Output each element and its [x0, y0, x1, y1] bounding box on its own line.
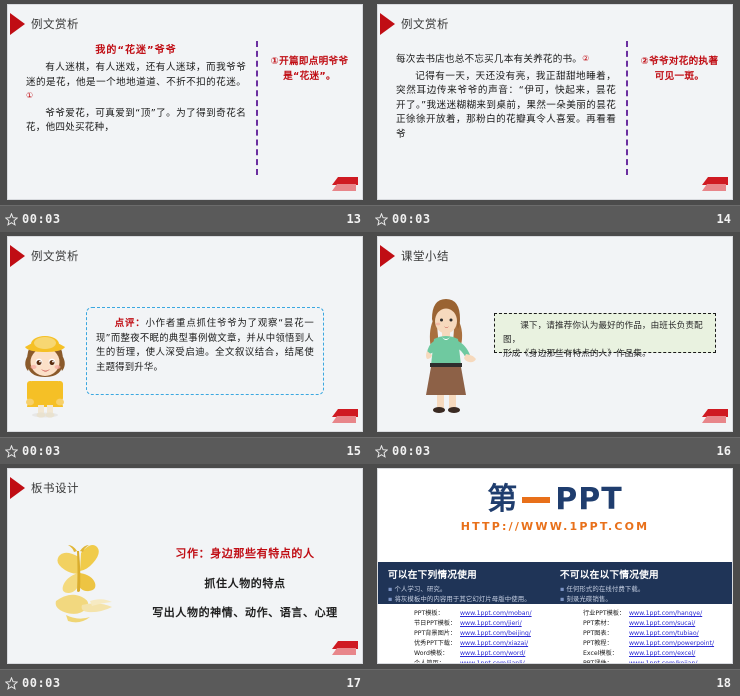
status-left: 00:03 [375, 444, 431, 458]
slide-header-title: 例文赏析 [31, 248, 79, 264]
essay-paragraph: 爷爷爱花，可真爱到“顶”了。为了得到奇花名花，他四处买花种， [26, 107, 246, 136]
slide-header-title: 例文赏析 [401, 16, 449, 32]
star-icon [375, 445, 388, 458]
links-right-column: 行业PPT模板：www.1ppt.com/hangye/ PPT素材：www.1… [555, 609, 724, 664]
comment-callout-box: 点评：小作者重点抓住爷爷为了观察“昙花一现”而整夜不眠的典型事例做文章，并从中领… [86, 307, 324, 395]
link-item[interactable]: PPT素材：www.1ppt.com/sucai/ [583, 619, 724, 629]
link-item[interactable]: Excel模板：www.1ppt.com/excel/ [583, 649, 724, 659]
slide-header: 板书设计 [8, 477, 79, 499]
star-icon [5, 213, 18, 226]
allowed-item: ▪个人学习、研究。 [388, 584, 554, 594]
logo-chinese-char: 第 [487, 485, 517, 515]
logo-ppt-text: PPT [555, 485, 622, 515]
board-design-text: 习作：身边那些有特点的人 抓住人物的特点 写出人物的神情、动作、语言、心理 [136, 545, 354, 633]
triangle-flag-icon [380, 13, 395, 35]
star-icon [5, 445, 18, 458]
status-bar: 00:03 14 [370, 205, 740, 232]
triangle-flag-icon [380, 245, 395, 267]
slide-header: 课堂小结 [378, 245, 449, 267]
slide-cell-17[interactable]: 板书设计 [0, 464, 370, 696]
triangle-flag-icon [10, 245, 25, 267]
link-item[interactable]: PPT课件：www.1ppt.com/kejian/ [583, 659, 724, 664]
corner-ribbon-icon [698, 409, 728, 425]
link-item[interactable]: 节日PPT模板：www.1ppt.com/jieri/ [414, 619, 555, 629]
star-icon [5, 677, 18, 690]
slide-17[interactable]: 板书设计 [7, 468, 363, 664]
status-left: 00:03 [375, 212, 431, 226]
slide-18[interactable]: 第 PPT HTTP://WWW.1PPT.COM 可以在下列情况使用 ▪个人学… [377, 468, 733, 664]
allowed-heading: 可以在下列情况使用 [388, 567, 554, 581]
status-bar: 18 [370, 669, 740, 696]
board-line-3: 写出人物的神情、动作、语言、心理 [136, 604, 354, 620]
timer-text: 00:03 [22, 444, 61, 458]
slide-cell-13[interactable]: 例文赏析 我的“花迷”爷爷 有人迷棋，有人迷戏，还有人迷球，而我爷爷迷的是花，他… [0, 0, 370, 232]
footnote-mark: ① [26, 91, 33, 100]
logo-url: HTTP://WWW.1PPT.COM [378, 520, 732, 533]
essay-title: 我的“花迷”爷爷 [26, 41, 246, 56]
link-item[interactable]: Word模板：www.1ppt.com/word/ [414, 649, 555, 659]
allowed-usage-column: 可以在下列情况使用 ▪个人学习、研究。 ▪将灰模板中的内容用于其它幻灯片母版中使… [388, 567, 560, 604]
task-callout-box: 课下，请推荐你认为最好的作品，由班长负责配图， 形成《身边那些有特点的人》作品集… [494, 313, 716, 353]
forbidden-heading: 不可以在以下情况使用 [560, 567, 726, 581]
resource-links: PPT模板：www.1ppt.com/moban/ 节日PPT模板：www.1p… [378, 609, 732, 664]
cartoon-girl-illustration [14, 329, 76, 419]
essay-paragraph: 有人迷棋，有人迷戏，还有人迷球，而我爷爷迷的是花，他是一个地地道道、不折不扣的花… [26, 61, 246, 105]
slide-cell-14[interactable]: 例文赏析 每次去书店也总不忘买几本有关养花的书。② 记得有一天，天还没有亮，我正… [370, 0, 740, 232]
star-icon [375, 213, 388, 226]
slide-header: 例文赏析 [8, 245, 79, 267]
status-bar: 00:03 17 [0, 669, 370, 696]
board-line-2: 抓住人物的特点 [136, 575, 354, 591]
board-line-1: 习作：身边那些有特点的人 [136, 545, 354, 561]
slide-16[interactable]: 课堂小结 [377, 236, 733, 432]
slide-13[interactable]: 例文赏析 我的“花迷”爷爷 有人迷棋，有人迷戏，还有人迷球，而我爷爷迷的是花，他… [7, 4, 363, 200]
page-number: 17 [347, 676, 361, 690]
forbidden-item: ▪任何形式的在线付费下载。 [560, 584, 726, 594]
slide-cell-15[interactable]: 例文赏析 [0, 232, 370, 464]
status-bar: 00:03 15 [0, 437, 370, 464]
status-bar: 00:03 16 [370, 437, 740, 464]
corner-ribbon-icon [328, 641, 358, 657]
link-item[interactable]: PPT背景图片：www.1ppt.com/beijing/ [414, 629, 555, 639]
slide-cell-18[interactable]: 第 PPT HTTP://WWW.1PPT.COM 可以在下列情况使用 ▪个人学… [370, 464, 740, 696]
timer-text: 00:03 [392, 444, 431, 458]
essay-content: 每次去书店也总不忘买几本有关养花的书。② 记得有一天，天还没有亮，我正甜甜地睡着… [388, 39, 724, 181]
brand-logo: 第 PPT HTTP://WWW.1PPT.COM [378, 483, 732, 533]
logo-dash-icon [522, 497, 550, 503]
page-number: 18 [717, 676, 731, 690]
slide-grid: 例文赏析 我的“花迷”爷爷 有人迷棋，有人迷戏，还有人迷球，而我爷爷迷的是花，他… [0, 0, 740, 696]
comment-text: 点评：小作者重点抓住爷爷为了观察“昙花一现”而整夜不眠的典型事例做文章，并从中领… [96, 317, 314, 375]
status-left: 00:03 [5, 676, 61, 690]
essay-body: 我的“花迷”爷爷 有人迷棋，有人迷戏，还有人迷球，而我爷爷迷的是花，他是一个地地… [18, 39, 246, 181]
task-line-2: 形成《身边那些有特点的人》作品集。 [503, 348, 707, 362]
slide-header-title: 例文赏析 [31, 16, 79, 32]
usage-terms-band: 可以在下列情况使用 ▪个人学习、研究。 ▪将灰模板中的内容用于其它幻灯片母版中使… [378, 562, 732, 604]
essay-paragraph: 每次去书店也总不忘买几本有关养花的书。② [396, 53, 616, 68]
page-number: 16 [717, 444, 731, 458]
link-item[interactable]: 个人简历：www.1ppt.com/jianli/ [414, 659, 555, 664]
golden-butterfly-illustration [36, 535, 136, 639]
corner-ribbon-icon [328, 409, 358, 425]
slide-14[interactable]: 例文赏析 每次去书店也总不忘买几本有关养花的书。② 记得有一天，天还没有亮，我正… [377, 4, 733, 200]
timer-text: 00:03 [22, 212, 61, 226]
link-item[interactable]: PPT模板：www.1ppt.com/moban/ [414, 609, 555, 619]
task-line-1: 课下，请推荐你认为最好的作品，由班长负责配图， [503, 320, 707, 348]
link-item[interactable]: 优秀PPT下载：www.1ppt.com/xiazai/ [414, 639, 555, 649]
essay-content: 我的“花迷”爷爷 有人迷棋，有人迷戏，还有人迷球，而我爷爷迷的是花，他是一个地地… [18, 39, 354, 181]
status-left: 00:03 [5, 212, 61, 226]
teacher-illustration [408, 289, 484, 415]
triangle-flag-icon [10, 13, 25, 35]
status-left: 00:03 [5, 444, 61, 458]
slide-15[interactable]: 例文赏析 [7, 236, 363, 432]
link-item[interactable]: 行业PPT模板：www.1ppt.com/hangye/ [583, 609, 724, 619]
annotation-note: ①开篇即点明爷爷是“花迷”。 [259, 39, 354, 181]
forbidden-usage-column: 不可以在以下情况使用 ▪任何形式的在线付费下载。 ▪刻录光碟销售。 [560, 567, 732, 604]
forbidden-item: ▪刻录光碟销售。 [560, 594, 726, 604]
page-number: 14 [717, 212, 731, 226]
comment-label: 点评： [115, 318, 146, 329]
slide-header: 例文赏析 [8, 13, 79, 35]
allowed-item: ▪将灰模板中的内容用于其它幻灯片母版中使用。 [388, 594, 554, 604]
slide-header: 例文赏析 [378, 13, 449, 35]
triangle-flag-icon [10, 477, 25, 499]
page-number: 15 [347, 444, 361, 458]
slide-header-title: 课堂小结 [401, 248, 449, 264]
link-item[interactable]: PPT教程：www.1ppt.com/powerpoint/ [583, 639, 724, 649]
timer-text: 00:03 [392, 212, 431, 226]
links-left-column: PPT模板：www.1ppt.com/moban/ 节日PPT模板：www.1p… [386, 609, 555, 664]
essay-paragraph: 记得有一天，天还没有亮，我正甜甜地睡着，突然耳边传来爷爷的声音：“伊可，快起来，… [396, 70, 616, 143]
annotation-note: ②爷爷对花的执著可见一斑。 [629, 39, 724, 181]
timer-text: 00:03 [22, 676, 61, 690]
slide-cell-16[interactable]: 课堂小结 [370, 232, 740, 464]
link-item[interactable]: PPT图表：www.1ppt.com/tubiao/ [583, 629, 724, 639]
corner-ribbon-icon [328, 177, 358, 193]
essay-body: 每次去书店也总不忘买几本有关养花的书。② 记得有一天，天还没有亮，我正甜甜地睡着… [388, 39, 616, 181]
page-number: 13 [347, 212, 361, 226]
slide-header-title: 板书设计 [31, 480, 79, 496]
status-bar: 00:03 13 [0, 205, 370, 232]
corner-ribbon-icon [698, 177, 728, 193]
footnote-mark: ② [582, 54, 589, 63]
